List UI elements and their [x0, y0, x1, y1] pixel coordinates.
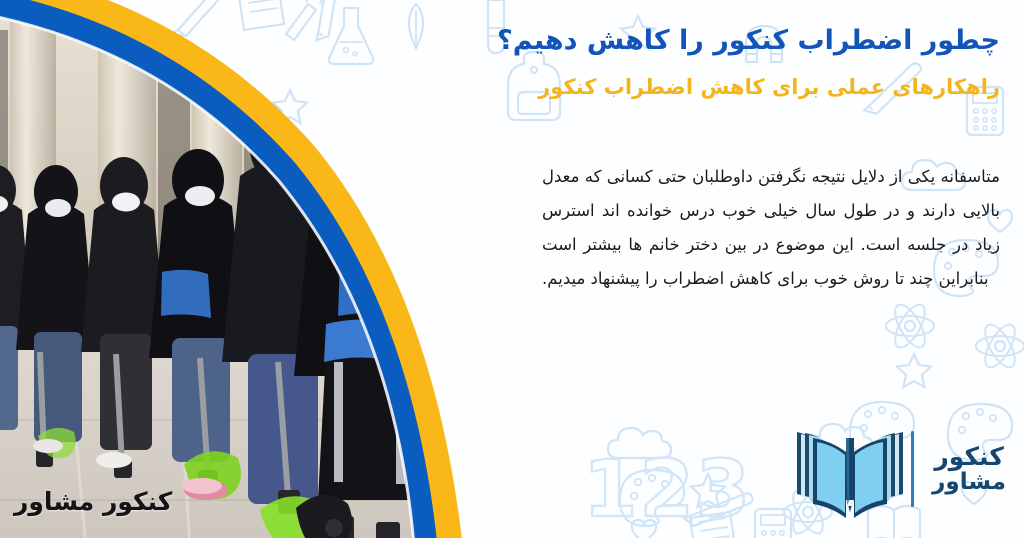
open-book-pencil-icon — [791, 414, 909, 524]
body-paragraph: متاسفانه یکی از دلایل نتیجه نگرفتن داوطل… — [542, 160, 1000, 296]
exam-hall-photo — [0, 0, 568, 538]
student-figure — [16, 165, 96, 442]
student-figure — [149, 149, 247, 462]
student-figure — [0, 165, 33, 430]
exam-photo-frame — [0, 0, 648, 538]
blue-chair — [161, 270, 211, 318]
photo-watermark: کنکور مشاور — [14, 487, 172, 516]
banner-root: 123 — [0, 0, 1024, 538]
body-text-block: متاسفانه یکی از دلایل نتیجه نگرفتن داوطل… — [542, 160, 1000, 296]
student-figure — [81, 157, 167, 450]
brand-name-line1: کنکور — [934, 443, 1003, 470]
yellow-band — [0, 0, 568, 538]
brand-logo-text: کنکور مشاور — [922, 443, 1006, 495]
logo-divider — [911, 431, 914, 507]
page-subtitle: راهکارهای عملی برای کاهش اضطراب کنکور — [430, 74, 1000, 101]
blue-chair — [324, 257, 408, 484]
blue-band — [0, 0, 568, 538]
brand-name-line2: مشاور — [932, 470, 1006, 495]
svg-text:123: 123 — [583, 445, 752, 535]
student-figure — [294, 100, 426, 500]
brand-logo[interactable]: کنکور مشاور — [791, 414, 1006, 524]
title-block: چطور اضطراب کنکور را کاهش دهیم؟ راهکارها… — [430, 24, 1000, 101]
student-figure — [222, 112, 354, 504]
page-title: چطور اضطراب کنکور را کاهش دهیم؟ — [430, 24, 1000, 58]
